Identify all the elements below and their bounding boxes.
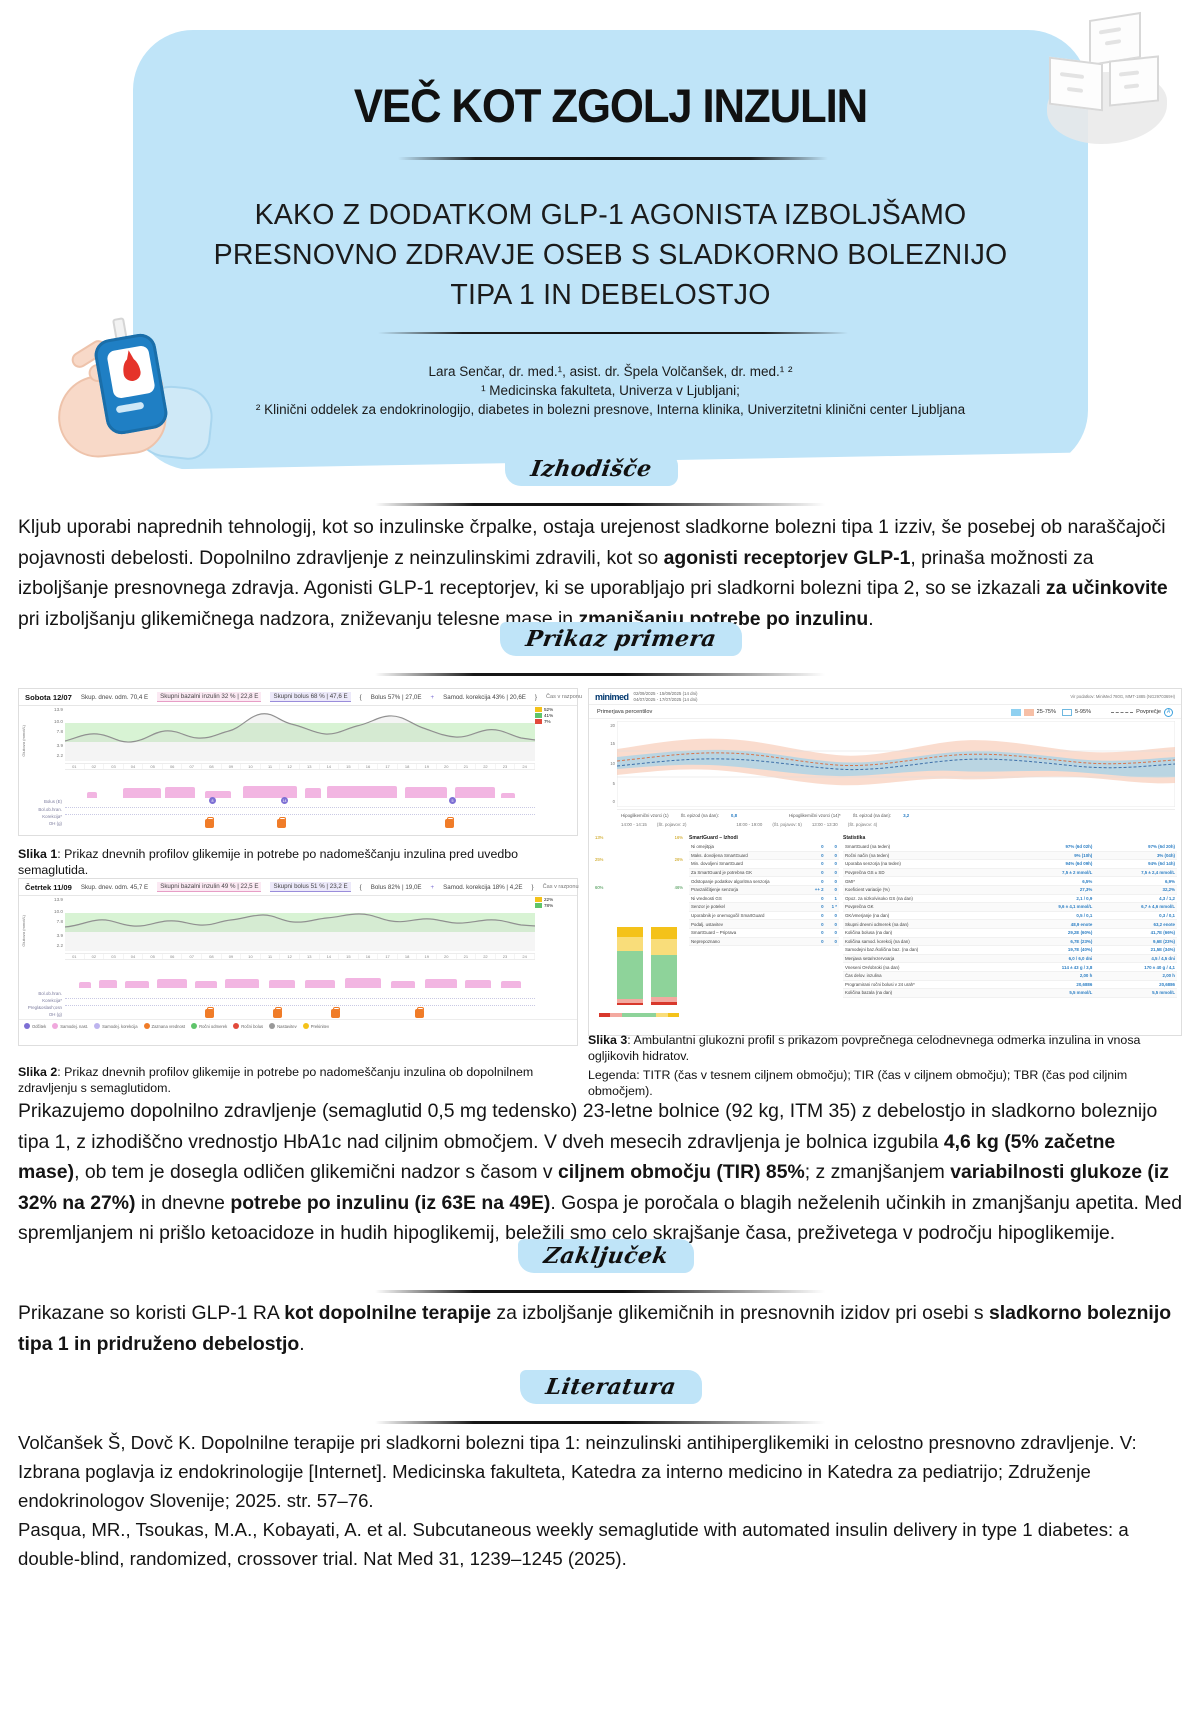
fig1-glucose-chart bbox=[65, 707, 535, 761]
fig1-auto-correction: Samod. korekcija 43% | 20,6E bbox=[443, 694, 526, 701]
meal-marker-icon bbox=[415, 1009, 424, 1018]
affiliation-2: ² Klinični oddelek za endokrinologijo, d… bbox=[193, 400, 1028, 419]
fig2-day: Četrtek 11/09 bbox=[25, 883, 72, 892]
fig1-ytick: 7.8 bbox=[57, 729, 63, 734]
fig2-legend-footer: Odčitek Samodej. nast. Samodej. korekcij… bbox=[19, 1019, 577, 1045]
legend-item: 52% bbox=[535, 707, 575, 712]
affiliation-1: ¹ Medicinska fakulteta, Univerza v Ljubl… bbox=[193, 381, 1028, 400]
fig3-chart-title: Primerjava percentilov bbox=[597, 709, 652, 715]
poster-subtitle: KAKO Z DODATKOM GLP-1 AGONISTA IZBOLJŠAM… bbox=[193, 195, 1028, 315]
legend-item: 41% bbox=[535, 713, 575, 718]
fig3-stats-title: Statistika bbox=[843, 835, 1177, 841]
fig2-ytick: 13.9 bbox=[54, 897, 63, 902]
table-row: Uporabnik je onemogočil SmartGuard00 bbox=[689, 911, 839, 920]
fig1-insulin-bars bbox=[65, 772, 535, 798]
references-list: Volčanšek Š, Dovč K. Dopolnilne terapije… bbox=[18, 1428, 1182, 1573]
figure-1-caption: Slika 1: Prikaz dnevnih profilov glikemi… bbox=[18, 846, 578, 878]
fig2-row-label: OH (g) bbox=[21, 1012, 65, 1017]
header-banner: VEČ KOT ZGOLJ INZULIN KAKO Z DODATKOM GL… bbox=[133, 30, 1088, 470]
table-row: Vneseni OH/obroki (na dan)114 ± 43 g / 3… bbox=[843, 963, 1177, 972]
table-row: Pravzaličitjenje senzorja++ 20 bbox=[689, 885, 839, 894]
fig3-hypo-episodes-label: Št. epizod (na dan): bbox=[681, 813, 719, 818]
section-divider-zakljucek bbox=[375, 1290, 825, 1293]
fig2-ytick: 10.0 bbox=[54, 909, 63, 914]
fig1-day: Sobota 12/07 bbox=[25, 693, 72, 702]
fig1-glucose-curve bbox=[65, 707, 535, 761]
fig2-row-label: Pregl&oslash;osn bbox=[21, 1005, 65, 1010]
figure-1-cgm-panel: Sobota 12/07 Skup. dnev. odm. 70,4 E Sku… bbox=[18, 688, 578, 836]
legend-item: 5-95% bbox=[1062, 709, 1091, 716]
sugar-cubes-illustration bbox=[1037, 10, 1182, 145]
legend-item: 22% bbox=[535, 897, 575, 902]
fig1-ytick: 10.0 bbox=[54, 719, 63, 724]
fig2-y-axis: Glukoza (mmol/L) 13.9 10.0 7.8 3.9 2.2 bbox=[21, 897, 65, 951]
fig3-hypo-title: Hipoglikemični vzorci (1) bbox=[621, 813, 669, 818]
fig1-y-axis: Glukoza (mmol/L) 13.9 10.0 7.8 3.9 2.2 bbox=[21, 707, 65, 761]
figure-2-cgm-panel: Četrtek 11/09 Skup. dnev. odm. 45,7 E Sk… bbox=[18, 878, 578, 1046]
fig1-row-label: Bolus (E) bbox=[21, 799, 65, 804]
fig1-row-label: Korekcija* bbox=[21, 814, 65, 819]
table-row: Odstopanje podatkov algoritma senzorja00 bbox=[689, 877, 839, 886]
fig1-y-title: Glukoza (mmol/L) bbox=[21, 725, 26, 757]
meal-marker-icon bbox=[205, 1009, 214, 1018]
fig2-plus: + bbox=[431, 884, 435, 891]
fig1-brace-close: } bbox=[535, 694, 537, 701]
fig2-bolus: Skupni bolus 51 % | 23,2 E bbox=[270, 882, 350, 892]
fig3-date-a: 02/09/2025 - 15/09/2025 (14 dni) bbox=[634, 691, 698, 697]
table-row: Maks. dovoljena SmartGuard00 bbox=[689, 851, 839, 860]
section-badge-zakljucek: Zaključek bbox=[518, 1239, 694, 1273]
fig2-insulin-bars bbox=[65, 962, 535, 988]
table-row: SmartGuard (na teden)97% (6d 02h)97% (6d… bbox=[843, 843, 1177, 851]
sugar-cube-icon bbox=[1049, 57, 1103, 112]
meal-marker-icon bbox=[205, 819, 214, 828]
table-row: Za SmartGuard je potrebna GK00 bbox=[689, 868, 839, 877]
fig3-hyper-count-2: (Št. pojavov: 4) bbox=[848, 822, 878, 827]
figure-3-agp-panel: minimed 02/09/2025 - 15/09/2025 (14 dni)… bbox=[588, 688, 1182, 1036]
fig2-brace-open: { bbox=[360, 884, 362, 891]
fig3-hyper-time-2: 13:00 - 13:30 bbox=[812, 822, 838, 827]
fig1-plus: + bbox=[431, 694, 435, 701]
fig1-row-label: OH (g) bbox=[21, 821, 65, 826]
fig1-brace-open: { bbox=[360, 694, 362, 701]
figure-3-legend-note: Legenda: TITR (čas v tesnem ciljnem obmo… bbox=[588, 1067, 1168, 1099]
meal-marker-icon bbox=[277, 819, 286, 828]
fig3-tir-bars: 13% 25% 60% 16% 26% 46% bbox=[593, 835, 685, 1019]
legend-item: Nastavitev bbox=[269, 1023, 297, 1029]
fig2-range-legend: 22% 78% bbox=[535, 897, 575, 909]
fig2-bolus-detail: Bolus 82% | 19,0E bbox=[371, 884, 422, 891]
table-row: SmartGuard – Priprava00 bbox=[689, 928, 839, 937]
fig2-total-dose: Skup. dnev. odm. 45,7 E bbox=[81, 884, 148, 891]
fig3-hyper-episodes: 3,2 bbox=[903, 813, 909, 818]
table-row: Neprepoznano00 bbox=[689, 937, 839, 946]
fig3-hyper-time-1: 18:00 - 19:00 bbox=[736, 822, 762, 827]
meal-marker-icon bbox=[331, 1009, 340, 1018]
table-row: Podalj. ustavitev00 bbox=[689, 920, 839, 929]
legend-item: 7% bbox=[535, 719, 575, 724]
fig2-brace-close: } bbox=[531, 884, 533, 891]
fig3-hyper-episodes-label: Št. epizod (na dan): bbox=[853, 813, 891, 818]
fig1-time-in-range-label: Čas v razponu bbox=[546, 694, 582, 700]
table-row: Menjava seta/rezervoarja6,0 / 6,0 dni4,5… bbox=[843, 954, 1177, 963]
fig2-ytick: 3.9 bbox=[57, 933, 63, 938]
fig2-y-title: Glukoza (mmol/L) bbox=[21, 915, 26, 947]
subtitle-line-1: KAKO Z DODATKOM GLP-1 AGONISTA IZBOLJŠAM… bbox=[193, 195, 1028, 235]
fig3-header: minimed 02/09/2025 - 15/09/2025 (14 dni)… bbox=[589, 689, 1181, 705]
section-badge-literatura: Literatura bbox=[520, 1370, 702, 1404]
fig3-date-ranges: 02/09/2025 - 15/09/2025 (14 dni) 04/07/2… bbox=[634, 691, 698, 703]
fig3-smartguard-title: SmartGuard – Izhodi bbox=[689, 835, 839, 841]
fig3-hypo-count-1: (Št. pojavov: 2) bbox=[657, 822, 687, 827]
author-block: Lara Senčar, dr. med.¹, asist. dr. Špela… bbox=[193, 362, 1028, 419]
fig3-agp-chart bbox=[617, 721, 1175, 807]
fig1-hour-axis: 0102 0304 0506 0708 0910 1112 1314 1516 … bbox=[65, 763, 535, 770]
legend-item: 78% bbox=[535, 903, 575, 908]
fig1-basal: Skupni bazalni inzulin 32 % | 22,8 E bbox=[157, 692, 261, 702]
fig1-ytick: 3.9 bbox=[57, 743, 63, 748]
table-row: Čas delov. inzulina2,00 h2,00 h bbox=[843, 971, 1177, 980]
sugar-cube-icon bbox=[1109, 55, 1159, 106]
intro-paragraph: Kljub uporabi naprednih tehnologij, kot … bbox=[18, 512, 1182, 634]
fig3-lower-panels: 13% 25% 60% 16% 26% 46% bbox=[593, 835, 1177, 1019]
subtitle-line-2: PRESNOVNO ZDRAVJE OSEB S SLADKORNO BOLEZ… bbox=[193, 235, 1028, 275]
table-row: GMI*6,5%6,9% bbox=[843, 877, 1177, 886]
fig3-statistics-table: Statistika SmartGuard (na teden)97% (6d … bbox=[843, 835, 1177, 1019]
fig3-pattern-row: Hipoglikemični vzorci (1) Št. epizod (na… bbox=[617, 809, 1175, 831]
fig2-auto-correction: Samod. korekcija 18% | 4,2E bbox=[443, 884, 522, 891]
section-divider-prikaz bbox=[375, 673, 825, 676]
minimed-logo: minimed bbox=[595, 692, 629, 702]
legend-item: 25-75% bbox=[1011, 709, 1056, 716]
fig1-ytick: 2.2 bbox=[57, 753, 63, 758]
figure-1-header: Sobota 12/07 Skup. dnev. odm. 70,4 E Sku… bbox=[19, 689, 577, 706]
table-row: Skupni dnevni odmerek (na dan)48,9 enote… bbox=[843, 920, 1177, 929]
fig2-basal: Skupni bazalni inzulin 49 % | 22,5 E bbox=[157, 882, 261, 892]
fig3-date-b: 04/07/2025 - 17/07/2025 (14 dni) bbox=[634, 697, 698, 703]
legend-item: Prekinitev bbox=[303, 1023, 329, 1029]
fig3-smartguard-table: SmartGuard – Izhodi Ni omejitpja00 Maks.… bbox=[689, 835, 839, 1019]
fig3-chart-toolbar: Primerjava percentilov 25-75% 5-95% Povp… bbox=[589, 706, 1181, 719]
page-title: VEČ KOT ZGOLJ INZULIN bbox=[166, 78, 1054, 133]
legend-item: Ročni bolus bbox=[233, 1023, 263, 1029]
conclusion-paragraph: Prikazane so koristi GLP-1 RA kot dopoln… bbox=[18, 1298, 1182, 1359]
legend-item: Zaznana vrednost bbox=[144, 1023, 186, 1029]
section-badge-izhodisce: Izhodišče bbox=[505, 452, 678, 486]
legend-item: Povprečje A bbox=[1111, 708, 1173, 717]
fig1-row-label: Bol.ob.hran. bbox=[21, 807, 65, 812]
table-row: Programirani ročni bolusi v 24 urah*20,6… bbox=[843, 980, 1177, 989]
subtitle-line-3: TIPA 1 IN DEBELOSTJO bbox=[193, 275, 1028, 315]
meal-marker-icon bbox=[445, 819, 454, 828]
section-divider-literatura bbox=[375, 1421, 825, 1424]
subtitle-divider bbox=[378, 332, 848, 334]
fig2-time-in-range-label: Čas v razponu bbox=[543, 884, 579, 890]
figure-3-caption: Slika 3: Ambulantni glukozni profil s pr… bbox=[588, 1032, 1168, 1099]
legend-item: Odčitek bbox=[24, 1023, 46, 1029]
reference-item-2: Pasqua, MR., Tsoukas, M.A., Kobayati, A.… bbox=[18, 1515, 1182, 1573]
table-row: Samodejni baz./količina baz. (na dan)19,… bbox=[843, 946, 1177, 955]
fig3-hyper-title: Hipoglikemični vzorci (14)* bbox=[789, 813, 841, 818]
bolus-marker: 5 bbox=[449, 797, 456, 804]
fig2-hour-axis: 0102 0304 0506 0708 0910 1112 1314 1516 … bbox=[65, 953, 535, 960]
case-paragraph: Prikazujemo dopolnilno zdravljenje (sema… bbox=[18, 1096, 1182, 1249]
table-row: Min. dovoljeni SmartGuard00 bbox=[689, 860, 839, 869]
fig1-range-legend: 52% 41% 7% bbox=[535, 707, 575, 725]
table-row: Koeficient variacije (%)27,3%32,2% bbox=[843, 885, 1177, 894]
fig3-hypo-time-1: 14:00 - 14:15 bbox=[621, 822, 647, 827]
fig3-source: Vir podatkov: MiniMed 780G, MMT-1885 (NG… bbox=[1070, 694, 1175, 699]
section-divider-izhodisce bbox=[375, 503, 825, 506]
fig1-bolus-detail: Bolus 57% | 27,0E bbox=[371, 694, 422, 701]
bolus-marker: 14 bbox=[281, 797, 288, 804]
glucometer-hand-illustration bbox=[48, 312, 223, 467]
reference-item-1: Volčanšek Š, Dovč K. Dopolnilne terapije… bbox=[18, 1428, 1182, 1515]
fig2-row-label: Korekcija* bbox=[21, 998, 65, 1003]
fig3-y-axis: 20 15 10 5 0 bbox=[591, 721, 617, 807]
table-row: Povprečna GS ± SD7,5 ± 2 mmol/L7,5 ± 2,4… bbox=[843, 868, 1177, 877]
fig2-ytick: 7.8 bbox=[57, 919, 63, 924]
fig2-glucose-curve bbox=[65, 897, 535, 951]
fig2-row-label: Bol.ob.hran. bbox=[21, 991, 65, 996]
meal-marker-icon bbox=[273, 1009, 282, 1018]
table-row: Opoz. za nizko/visoko GS (na dan)2,1 / 0… bbox=[843, 894, 1177, 903]
table-row: Količina samod. korekcij (na dan)6,7E (2… bbox=[843, 937, 1177, 946]
fig1-ytick: 13.9 bbox=[54, 707, 63, 712]
table-row: Uporaba senzorja (na teden)94% (6d 09h)9… bbox=[843, 860, 1177, 869]
table-row: Količina bazala (na dan)5,5 mmol/L5,5 mm… bbox=[843, 989, 1177, 998]
title-divider bbox=[398, 157, 828, 160]
fig2-ytick: 2.2 bbox=[57, 943, 63, 948]
legend-item: Samodej. korekcija bbox=[94, 1023, 137, 1029]
table-row: GK/vmerjanje (na dan)0,5 / 0,10,3 / 0,1 bbox=[843, 911, 1177, 920]
table-row: Senzor je potekel01 * bbox=[689, 903, 839, 912]
fig3-hypo-episodes: 0,8 bbox=[731, 813, 737, 818]
figure-2-caption: Slika 2: Prikaz dnevnih profilov glikemi… bbox=[18, 1064, 588, 1096]
table-row: Količina bolusa (na dan)29,2E (60%)41,7E… bbox=[843, 928, 1177, 937]
author-names: Lara Senčar, dr. med.¹, asist. dr. Špela… bbox=[193, 362, 1028, 381]
table-row: Ni omejitpja00 bbox=[689, 843, 839, 851]
fig2-glucose-chart bbox=[65, 897, 535, 951]
figure-2-header: Četrtek 11/09 Skup. dnev. odm. 45,7 E Sk… bbox=[19, 879, 577, 896]
table-row: Povprečna GK9,6 ± 4,1 mmol/L6,7 ± 4,6 mm… bbox=[843, 903, 1177, 912]
fig1-total-dose: Skup. dnev. odm. 70,4 E bbox=[81, 694, 148, 701]
legend-item: Ročni odmerek bbox=[191, 1023, 227, 1029]
bolus-marker: 8 bbox=[209, 797, 216, 804]
legend-item: Samodej. nast. bbox=[52, 1023, 88, 1029]
table-row: Ni vrednosti GS01 bbox=[689, 894, 839, 903]
fig3-hyper-count-1: (Št. pojavov: 5) bbox=[772, 822, 802, 827]
section-badge-prikaz-primera: Prikaz primera bbox=[500, 622, 742, 656]
table-row: Ročni način (na teden)9% (10h)3% (04h) bbox=[843, 851, 1177, 860]
fig1-bolus: Skupni bolus 68 % | 47,6 E bbox=[270, 692, 350, 702]
